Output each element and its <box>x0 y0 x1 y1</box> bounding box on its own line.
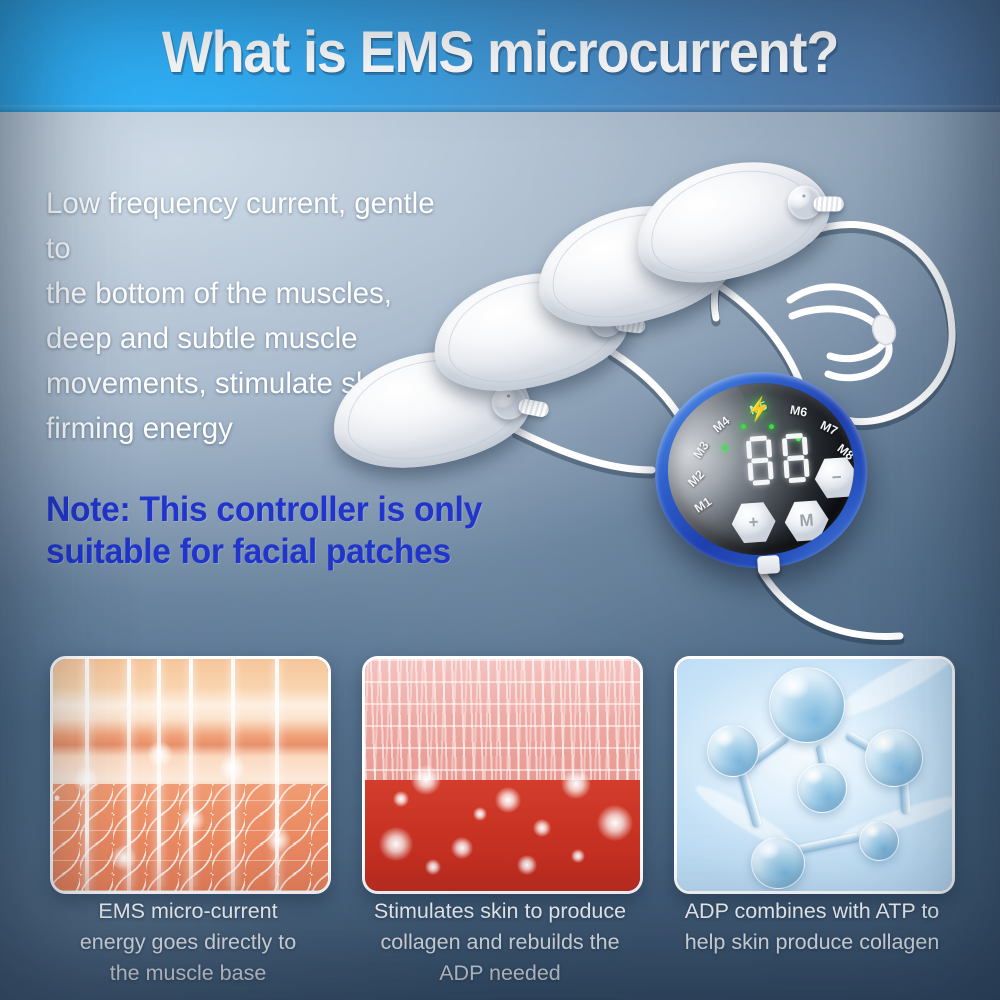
infographic-page: What is EMS microcurrent? Low frequency … <box>0 0 1000 1000</box>
edge-vignette <box>0 0 1000 1000</box>
